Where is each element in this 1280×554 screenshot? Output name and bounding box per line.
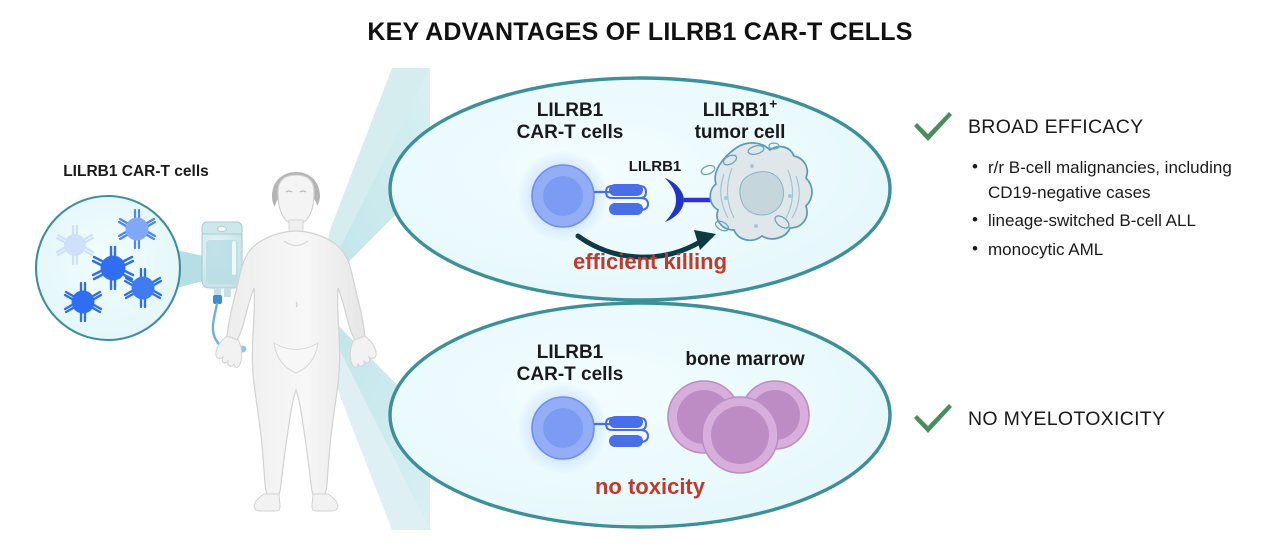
top-cart-label: LILRB1 CAR-T cells	[490, 100, 650, 145]
bottom-cart-label: LILRB1 CAR-T cells	[490, 342, 650, 387]
advantage-no-myelotoxicity: NO MYELOTOXICITY	[912, 396, 1274, 442]
cart-cell-top	[517, 150, 609, 242]
ligand-label: LILRB1	[610, 158, 700, 176]
check-icon	[912, 402, 954, 436]
advantage-title: NO MYELOTOXICITY	[968, 408, 1165, 431]
list-item: monocytic AML	[972, 238, 1274, 263]
advantage-broad-efficacy: BROAD EFFICACY r/r B-cell malignancies, …	[912, 104, 1274, 267]
marrow-cell	[702, 397, 778, 473]
cluster-label: LILRB1 CAR-T cells	[36, 163, 236, 181]
diagram-graphics	[0, 0, 1280, 554]
cart-cell-bottom	[517, 382, 609, 474]
top-outcome-text: efficient killing	[500, 249, 800, 275]
list-item: lineage-switched B-cell ALL	[972, 209, 1274, 234]
tumor-label-rest: tumor cell	[695, 122, 786, 143]
page-title: KEY ADVANTAGES OF LILRB1 CAR-T CELLS	[0, 18, 1280, 47]
top-tumor-label: LILRB1+tumor cell	[660, 100, 820, 145]
advantage-header: NO MYELOTOXICITY	[912, 396, 1274, 442]
bottom-outcome-text: no toxicity	[500, 474, 800, 500]
tumor-label-superscript: +	[769, 97, 777, 112]
check-icon	[912, 110, 954, 144]
advantage-header: BROAD EFFICACY	[912, 104, 1274, 150]
tumor-label-main: LILRB1	[703, 100, 770, 121]
list-item: r/r B-cell malignancies, including CD19-…	[972, 156, 1274, 205]
bone-marrow-label: bone marrow	[660, 349, 830, 371]
figure-canvas: KEY ADVANTAGES OF LILRB1 CAR-T CELLS LIL…	[0, 0, 1280, 554]
advantage-title: BROAD EFFICACY	[968, 116, 1143, 139]
advantage-bullet-list: r/r B-cell malignancies, including CD19-…	[912, 156, 1274, 263]
